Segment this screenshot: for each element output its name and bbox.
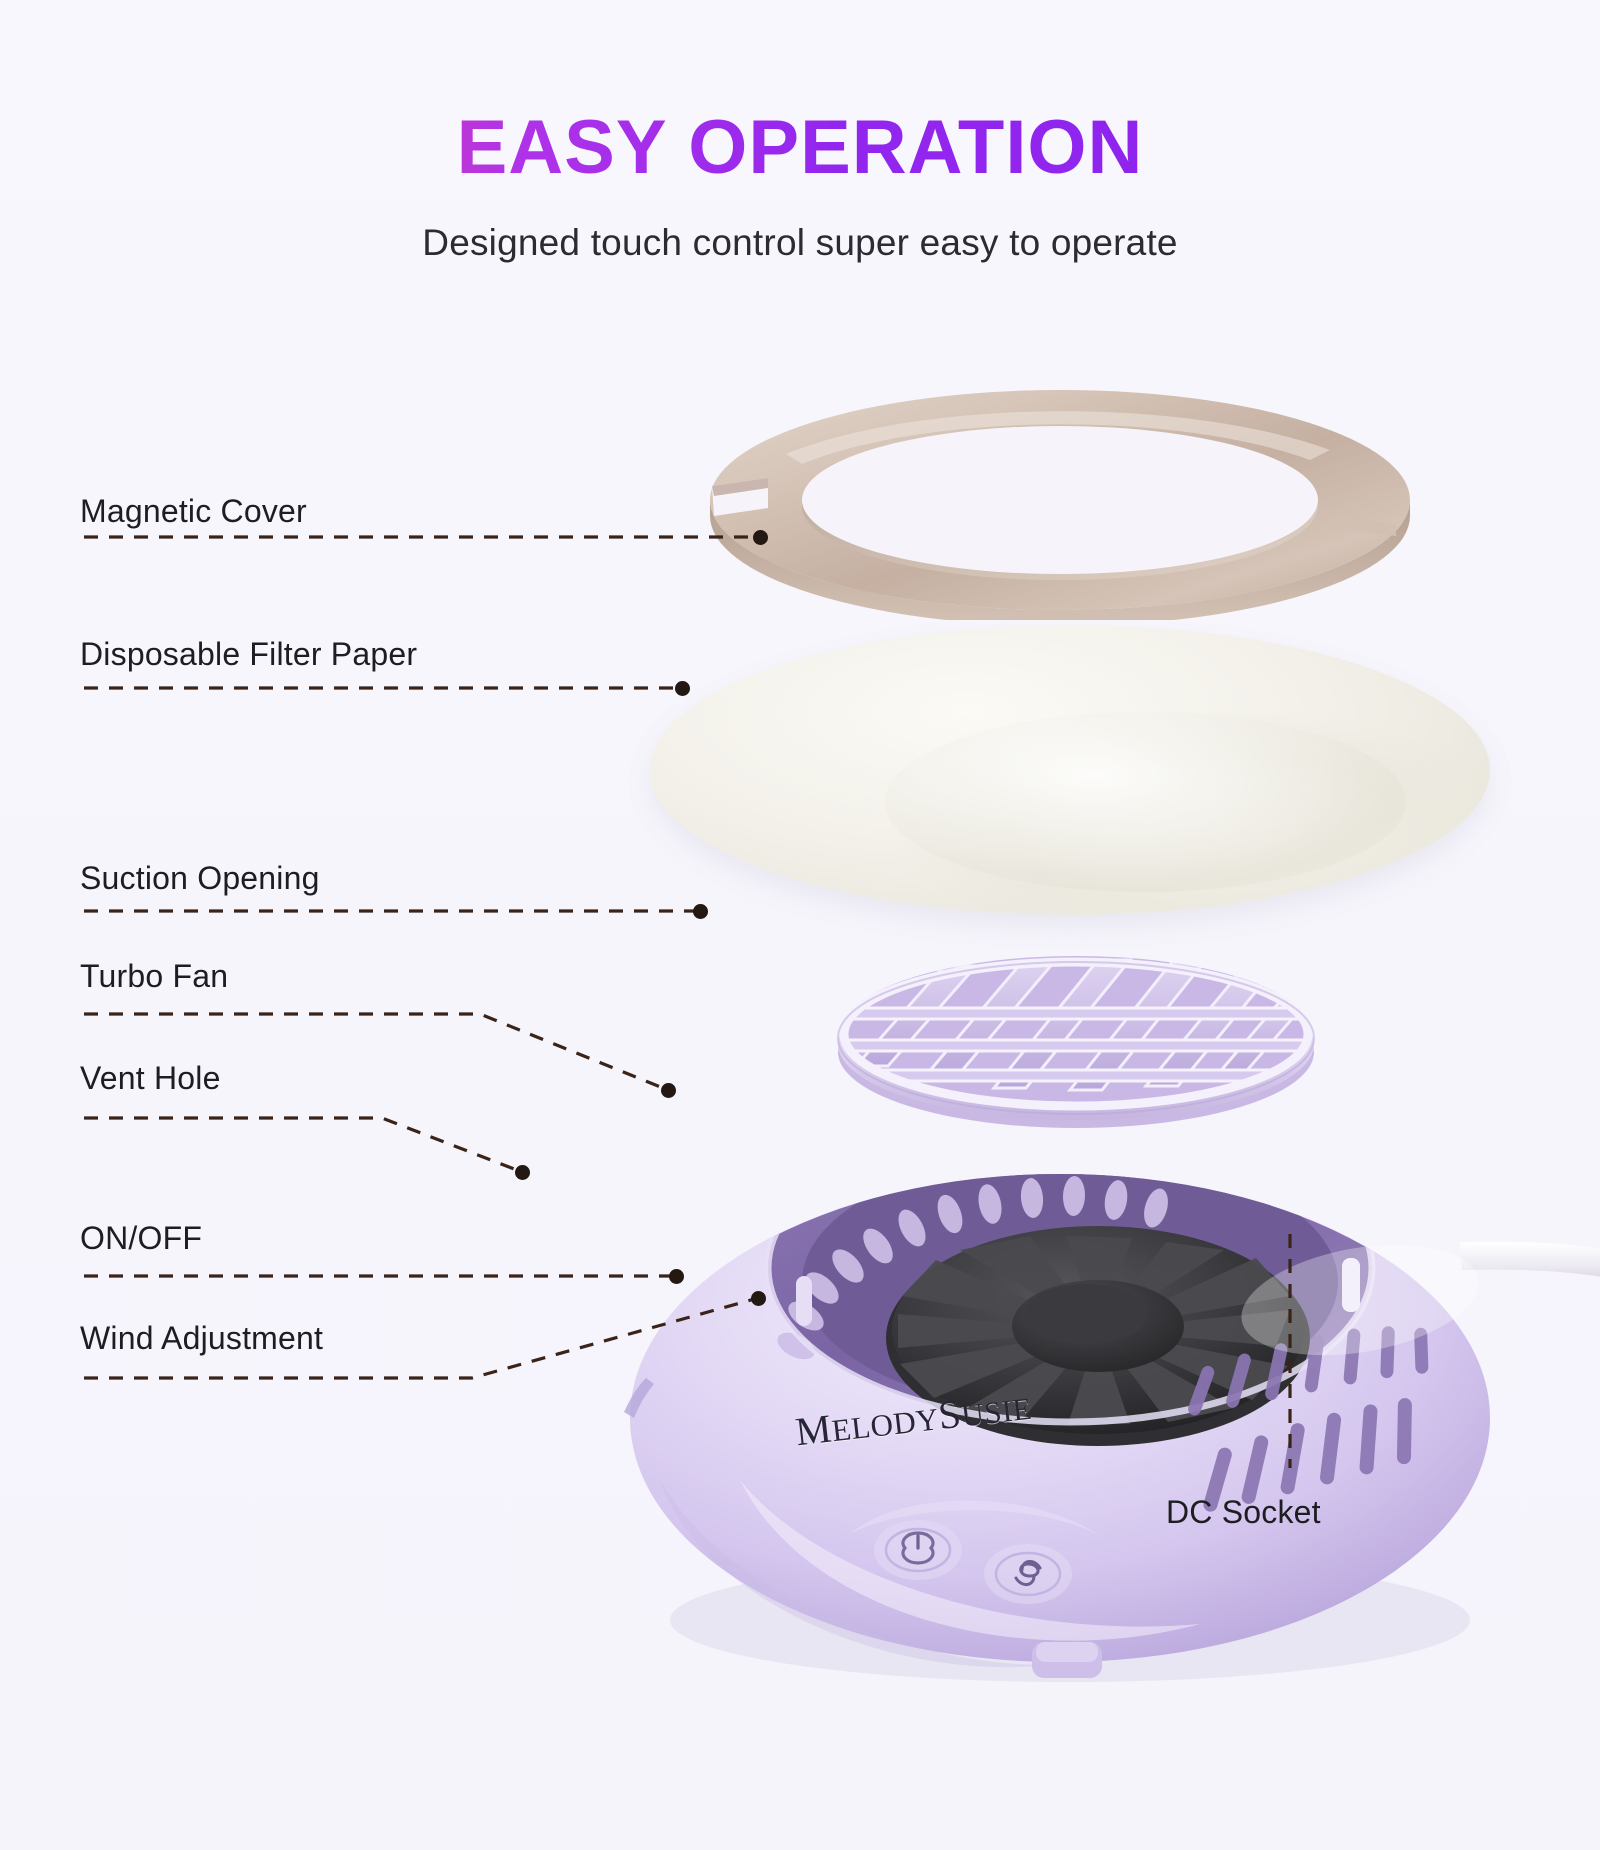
dot-wind-adjustment xyxy=(751,1291,766,1306)
dot-suction-opening xyxy=(693,904,708,919)
product-illustration: MELODYSUSIE xyxy=(0,0,1600,1850)
callout-on-off: ON/OFF xyxy=(80,1222,202,1254)
callout-label-magnetic-cover: Magnetic Cover xyxy=(80,495,307,527)
dot-turbo-fan xyxy=(661,1083,676,1098)
fan-speed-button xyxy=(984,1544,1072,1604)
infographic-page: EASY OPERATION Designed touch control su… xyxy=(0,0,1600,1850)
callout-disposable-filter: Disposable Filter Paper xyxy=(80,638,417,670)
callout-label-turbo-fan: Turbo Fan xyxy=(80,960,228,992)
dc-socket-cable xyxy=(1460,1242,1600,1288)
dot-disposable-filter xyxy=(675,681,690,696)
callout-dc-socket: DC Socket xyxy=(1166,1496,1321,1528)
callout-label-on-off: ON/OFF xyxy=(80,1222,202,1254)
brand-logo-usie: USIE xyxy=(959,1391,1033,1434)
main-body-unit xyxy=(600,1150,1600,1710)
callout-label-dc-socket: DC Socket xyxy=(1166,1496,1321,1528)
callout-wind-adjustment: Wind Adjustment xyxy=(80,1322,323,1354)
dot-magnetic-cover xyxy=(753,530,768,545)
callout-label-vent-hole: Vent Hole xyxy=(80,1062,221,1094)
callout-label-suction-opening: Suction Opening xyxy=(80,862,320,894)
callout-turbo-fan: Turbo Fan xyxy=(80,960,228,992)
power-button xyxy=(874,1520,962,1580)
brand-logo-m: M xyxy=(793,1405,834,1454)
callout-label-wind-adjustment: Wind Adjustment xyxy=(80,1322,323,1354)
magnetic-cover-ring xyxy=(690,390,1430,620)
dot-on-off xyxy=(669,1269,684,1284)
disposable-filter-paper xyxy=(650,625,1490,915)
callout-vent-hole: Vent Hole xyxy=(80,1062,221,1094)
dot-vent-hole xyxy=(515,1165,530,1180)
rubber-foot xyxy=(1032,1642,1102,1678)
callout-magnetic-cover: Magnetic Cover xyxy=(80,495,307,527)
callout-label-disposable-filter: Disposable Filter Paper xyxy=(80,638,417,670)
suction-grille xyxy=(826,948,1326,1148)
callout-suction-opening: Suction Opening xyxy=(80,862,320,894)
